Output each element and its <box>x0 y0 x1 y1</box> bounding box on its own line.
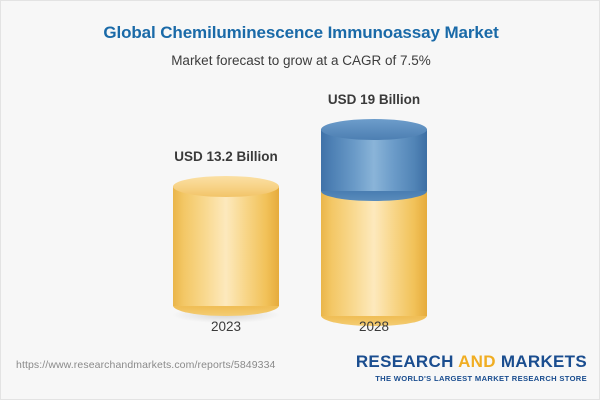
bar-2023[interactable]: USD 13.2 Billion <box>165 166 287 317</box>
infographic-canvas: Global Chemiluminescence Immunoassay Mar… <box>0 0 600 400</box>
chart-plot-area: USD 13.2 Billion USD 19 Billion 2023 202… <box>1 1 600 349</box>
footer: https://www.researchandmarkets.com/repor… <box>1 347 600 399</box>
brand-logo[interactable]: RESEARCH AND MARKETS THE WORLD'S LARGEST… <box>356 353 587 383</box>
source-url-link[interactable]: https://www.researchandmarkets.com/repor… <box>16 359 275 371</box>
bar-value-label-2028: USD 19 Billion <box>274 92 474 107</box>
brand-tagline: THE WORLD'S LARGEST MARKET RESEARCH STOR… <box>356 374 587 383</box>
brand-word-markets: MARKETS <box>501 352 587 371</box>
cylinder-top-ellipse-2028 <box>321 119 427 140</box>
brand-wordmark: RESEARCH AND MARKETS <box>356 353 587 372</box>
bar-value-label-2023: USD 13.2 Billion <box>126 149 326 164</box>
bar-2028[interactable]: USD 19 Billion <box>313 109 435 317</box>
cylinder-body-base-2028 <box>321 191 427 316</box>
cylinder-body-2023 <box>173 186 279 306</box>
cylinder-top-ellipse-2023 <box>173 176 279 197</box>
brand-word-research: RESEARCH <box>356 352 454 371</box>
brand-word-and: AND <box>458 352 496 371</box>
x-axis-label-2028: 2028 <box>274 319 474 334</box>
